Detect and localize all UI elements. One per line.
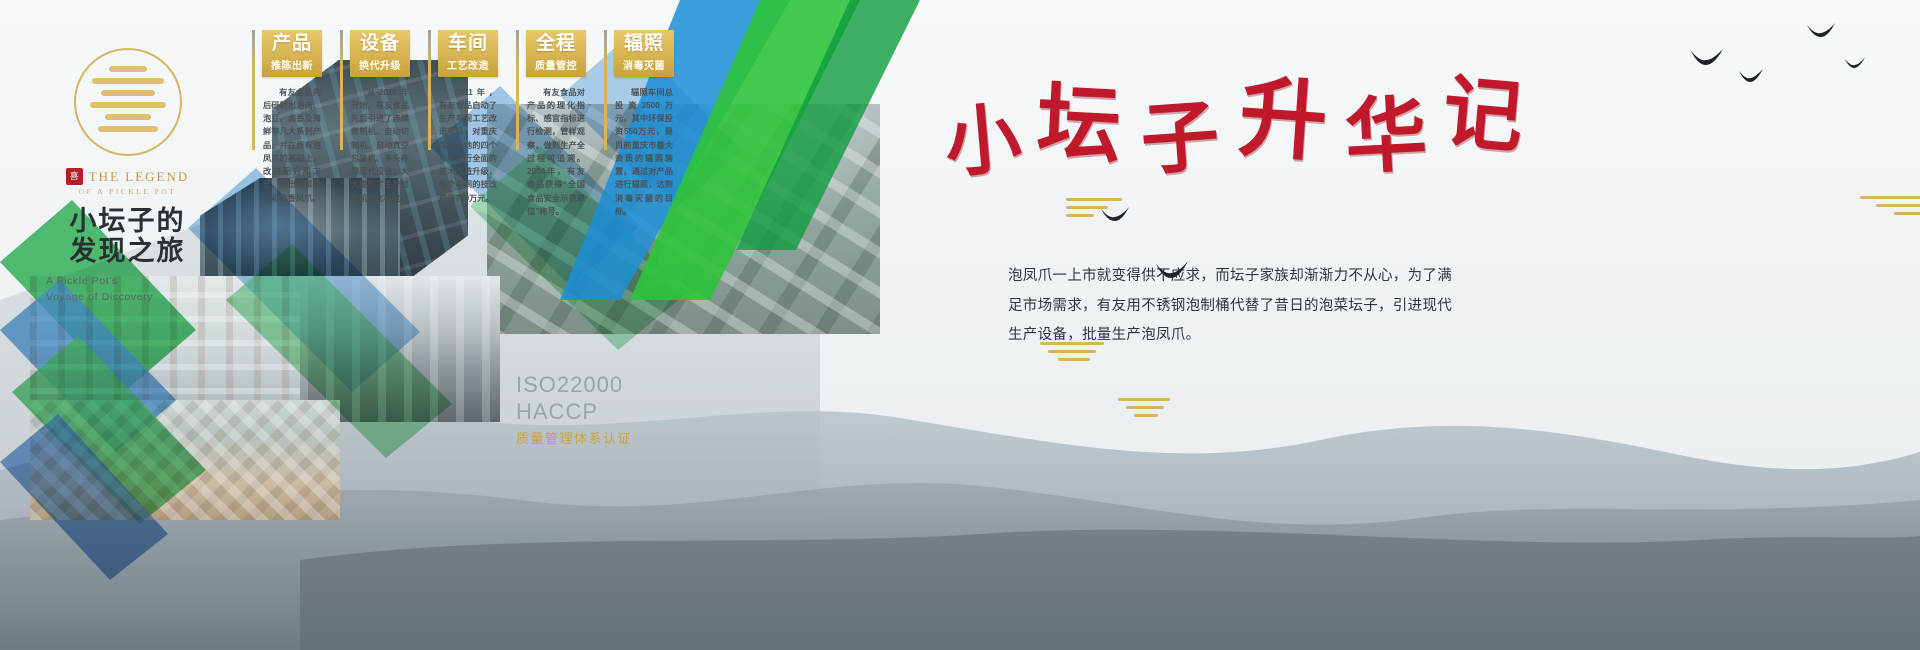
headline-char: 记 [1440,73,1527,160]
bird-icon [1690,48,1724,68]
info-card[interactable]: 产品 推陈出新 有友食品先后研制出泡肉、泡豆、卤香及海鲜等几大系列产品，并在原有… [252,30,322,218]
headline-char: 坛 [1035,82,1123,170]
info-card[interactable]: 设备 换代升级 从2010年开始，有友食品先后引进了连续煮制机、自动切制机、自动… [340,30,410,218]
card-body: 有友食品对产品的理化指标、感官指标进行检测，管样观察，做到生产全过程可追溯。20… [526,86,586,219]
card-rail [428,30,431,150]
card-subtitle: 推陈出新 [264,57,320,72]
certification-block: ISO22000 HACCP 质量管理体系认证 [516,372,632,447]
headline-char: 小 [942,101,1024,183]
certification-line2: HACCP [516,399,632,426]
bird-icon [1154,260,1190,282]
card-header: 全程 质量管控 [526,30,586,77]
info-card[interactable]: 车间 工艺改造 2011年，有友食品启动了生产车间工艺改造项目，对重庆渝北基地的… [428,30,498,218]
headline-char: 华 [1343,94,1429,180]
info-card[interactable]: 辐照 消毒灭菌 辐照车间总投资3500万元，其中环保投资550万元，是目前重庆市… [604,30,674,218]
brand-block: 喜 THE LEGEND OF A PICKLE POT 小坛子的 发现之旅 A… [40,48,215,305]
bird-icon [1806,22,1836,40]
card-rail [252,30,255,150]
legend-en: THE LEGEND [89,169,190,185]
legend-en-sub: OF A PICKLE POT [40,187,215,196]
card-rail [340,30,343,150]
card-body: 从2010年开始，有友食品先后引进了连续煮制机、自动切制机、自动真空包装机、多头… [350,86,410,206]
card-rail [604,30,607,150]
red-chop-icon: 喜 [66,168,83,185]
description-paragraph: 泡凤爪一上市就变得供不应求，而坛子家族却渐渐力不从心，为了满足市场需求，有友用不… [1008,262,1464,351]
brand-en-line1: A Pickle Pot's [46,274,215,289]
brand-en-line2: Voyage of Discovery [46,290,215,305]
bird-icon [1738,68,1764,84]
headline-char: 子 [1138,97,1221,180]
pickle-jar-seal-icon [74,48,182,156]
card-title: 车间 [440,34,496,55]
card-title: 设备 [352,34,408,55]
gold-cloud-ornament [1118,398,1170,422]
card-title: 产品 [264,34,320,55]
card-subtitle: 消毒灭菌 [616,57,672,72]
card-subtitle: 工艺改造 [440,57,496,72]
headline-char: 升 [1236,75,1330,169]
certification-line1: ISO22000 [516,372,632,399]
legend-lockup: 喜 THE LEGEND [40,168,215,185]
card-subtitle: 质量管控 [528,57,584,72]
card-rail [516,30,519,150]
brand-cn-line2: 发现之旅 [40,236,215,266]
headline-calligraphy: 小 坛 子 升 华 记 [945,70,1505,195]
bird-icon [1100,206,1130,224]
card-title: 辐照 [616,34,672,55]
card-body: 辐照车间总投资3500万元，其中环保投资550万元，是目前重庆市最大资质的辐照装… [614,86,674,219]
photo-tiled-processing-floor [30,400,340,520]
card-title: 全程 [528,34,584,55]
info-card-list: 产品 推陈出新 有友食品先后研制出泡肉、泡豆、卤香及海鲜等几大系列产品，并在原有… [252,30,674,218]
card-subtitle: 换代升级 [352,57,408,72]
card-header: 车间 工艺改造 [438,30,498,77]
card-body: 有友食品先后研制出泡肉、泡豆、卤香及海鲜等几大系列产品，并在原有泡凤爪的基础上，… [262,86,322,206]
card-body: 2011年，有友食品启动了生产车间工艺改造项目，对重庆渝北基地的四个车间进行全面… [438,86,498,206]
info-card[interactable]: 全程 质量管控 有友食品对产品的理化指标、感官指标进行检测，管样观察，做到生产全… [516,30,586,218]
gold-cloud-ornament [1860,196,1920,220]
card-header: 产品 推陈出新 [262,30,322,77]
card-header: 辐照 消毒灭菌 [614,30,674,77]
card-header: 设备 换代升级 [350,30,410,77]
certification-line3: 质量管理体系认证 [516,428,632,447]
brand-cn-line1: 小坛子的 [40,206,215,236]
bird-icon [1844,56,1866,70]
banner-stage: 喜 THE LEGEND OF A PICKLE POT 小坛子的 发现之旅 A… [0,0,1920,650]
